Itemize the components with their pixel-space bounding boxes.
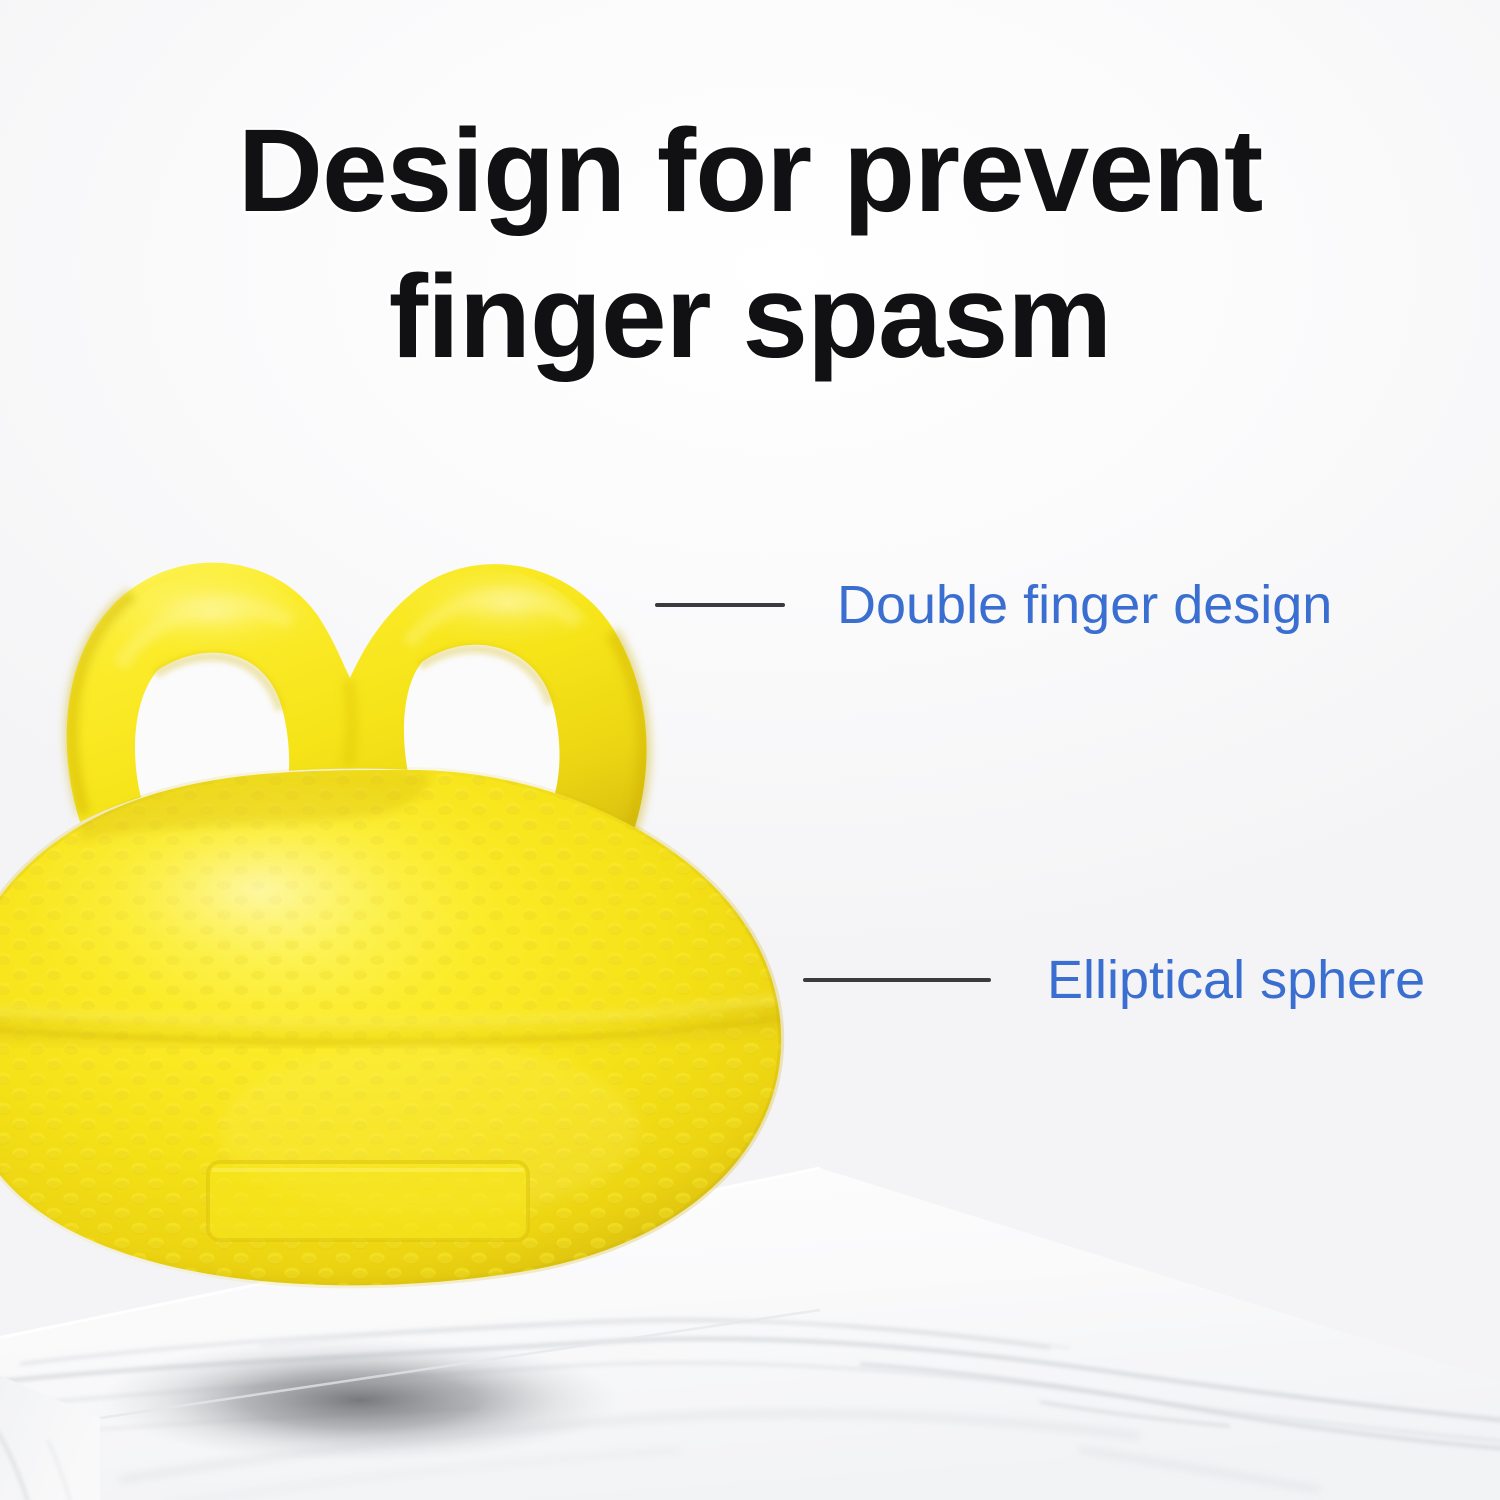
- elliptical-sphere-body: [0, 750, 860, 1290]
- leader-line: [655, 603, 785, 607]
- page-title: Design for prevent finger spasm: [0, 98, 1500, 390]
- callout-label-elliptical-sphere: Elliptical sphere: [1047, 950, 1425, 1010]
- callout-label-double-finger-design: Double finger design: [837, 575, 1332, 635]
- page-title-line-1: Design for prevent: [0, 98, 1500, 244]
- page-title-line-2: finger spasm: [0, 244, 1500, 390]
- callout-elliptical-sphere: Elliptical sphere: [803, 950, 1425, 1010]
- ball-bottom-tab: [208, 1162, 528, 1240]
- callout-double-finger-design: Double finger design: [655, 575, 1332, 635]
- leader-line: [803, 978, 991, 982]
- product-infographic: Design for prevent finger spasm Double f…: [0, 0, 1500, 1500]
